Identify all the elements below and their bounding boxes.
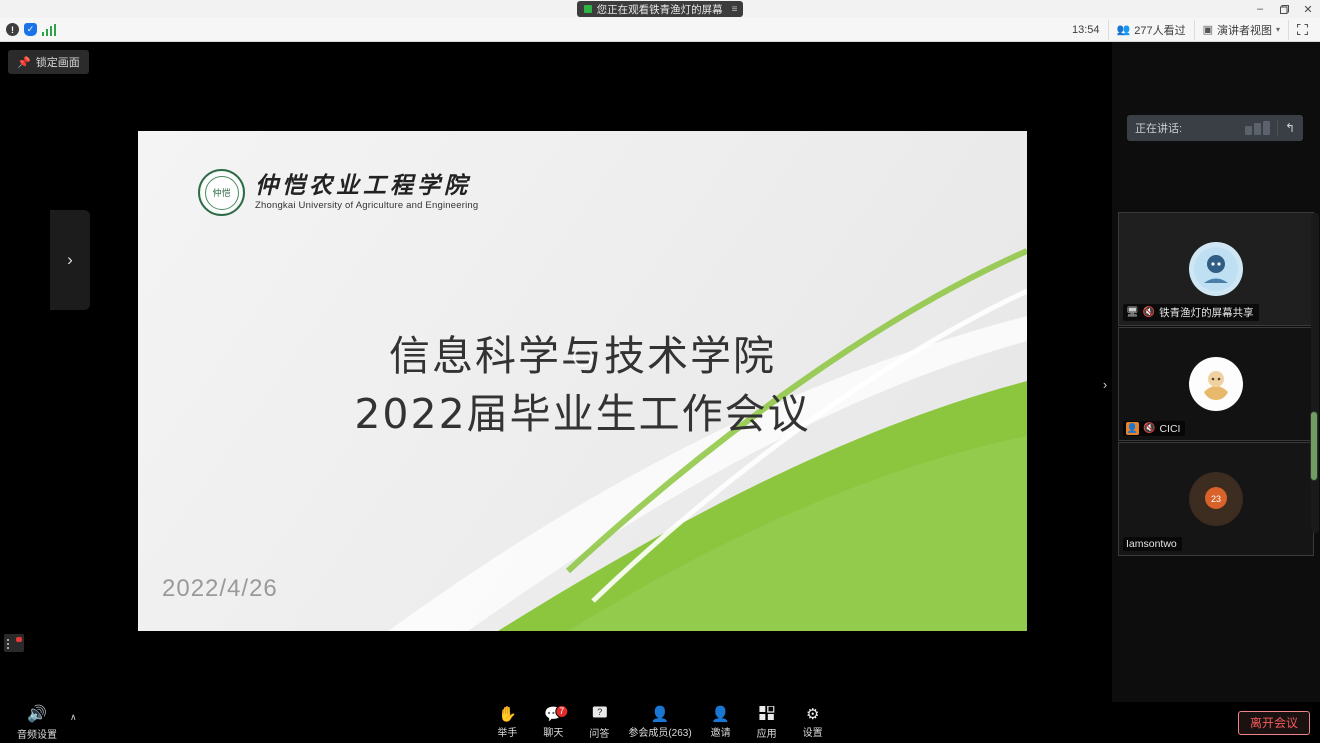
- logo-text-block: 仲恺农业工程学院 Zhongkai University of Agricult…: [255, 174, 478, 211]
- volume-bars-icon: [1245, 121, 1270, 135]
- invite-icon: 👤: [711, 707, 730, 722]
- qa-icon: ?: [592, 706, 607, 723]
- avatar: [1189, 242, 1243, 296]
- audio-settings-button[interactable]: 🔊 音频设置: [6, 703, 68, 743]
- minimize-button[interactable]: –: [1248, 0, 1272, 18]
- apps-grid-icon: [759, 706, 774, 720]
- lock-screen-button[interactable]: 📌 锁定画面: [8, 50, 89, 74]
- raise-hand-button[interactable]: ✋ 举手: [484, 703, 530, 743]
- annotation-toggle-button[interactable]: [4, 634, 24, 652]
- tile-label: Iamsontwo: [1123, 537, 1182, 551]
- title-bar: 您正在观看铁青渔灯的屏幕 ≡ – ✕: [0, 0, 1320, 18]
- participant-tiles-list: 🖥 🔇 铁青渔灯的屏幕共享 👤 🔇: [1118, 212, 1314, 557]
- participant-tile-cici[interactable]: 👤 🔇 CICI: [1118, 327, 1314, 441]
- fullscreen-button[interactable]: [1288, 20, 1316, 40]
- view-mode-button[interactable]: ▣ 演讲者视图 ▾: [1194, 20, 1288, 40]
- chat-label: 聊天: [543, 724, 563, 739]
- university-name-cn: 仲恺农业工程学院: [255, 174, 478, 198]
- svg-text:?: ?: [597, 707, 602, 717]
- participants-scrollbar-track[interactable]: [1311, 213, 1319, 533]
- apps-label: 应用: [757, 725, 777, 740]
- white-cartoon-avatar-icon: [1190, 358, 1242, 410]
- hamburger-menu-icon[interactable]: ≡: [732, 4, 737, 15]
- annotation-list-icon: [7, 638, 21, 649]
- participants-button[interactable]: 👤 参会成员(263): [622, 703, 697, 743]
- meeting-control-bar: 🔊 音频设置 ∧ ✋ 举手 💬 7 聊天 ?: [0, 702, 1320, 743]
- participant-tile-iamsontwo[interactable]: 23 Iamsontwo: [1118, 442, 1314, 556]
- status-icons-group: ! ✓: [0, 23, 56, 36]
- chat-button[interactable]: 💬 7 聊天: [530, 703, 576, 743]
- viewers-count-label: 277人看过: [1134, 22, 1185, 38]
- participants-label: 参会成员(263): [628, 724, 691, 739]
- mic-muted-icon: 🔇: [1143, 424, 1155, 434]
- chat-unread-badge: 7: [555, 705, 568, 718]
- leave-meeting-label: 离开会议: [1250, 714, 1298, 731]
- mic-muted-icon: 🔇: [1143, 308, 1155, 318]
- participant-icon: 👤: [1126, 422, 1139, 435]
- viewers-icon: 👥: [1117, 23, 1131, 36]
- participant-name: 铁青渔灯的屏幕共享: [1159, 305, 1254, 320]
- meeting-sub-toolbar: ! ✓ 13:54 👥 277人看过 ▣ 演讲者视图 ▾: [0, 18, 1320, 42]
- tile-label: 👤 🔇 CICI: [1123, 421, 1185, 436]
- blue-cartoon-avatar-icon: [1194, 247, 1238, 291]
- zoom-meeting-window: 您正在观看铁青渔灯的屏幕 ≡ – ✕ ! ✓ 13:54 👥: [0, 0, 1320, 743]
- chevron-down-icon[interactable]: ▾: [1276, 25, 1280, 34]
- university-name-en: Zhongkai University of Agriculture and E…: [255, 200, 478, 211]
- apps-icon: [759, 706, 774, 723]
- chevron-up-icon[interactable]: ∧: [70, 712, 77, 723]
- avatar: 23: [1189, 472, 1243, 526]
- raise-hand-label: 举手: [497, 724, 517, 739]
- participant-tile-screenshare[interactable]: 🖥 🔇 铁青渔灯的屏幕共享: [1118, 212, 1314, 326]
- nav-next-button[interactable]: ›: [1098, 372, 1112, 396]
- apps-button[interactable]: 应用: [744, 703, 790, 743]
- close-button[interactable]: ✕: [1296, 0, 1320, 18]
- nav-expand-panel-button[interactable]: ›: [50, 210, 90, 310]
- share-notice-text: 您正在观看铁青渔灯的屏幕: [597, 2, 723, 17]
- participants-scrollbar-thumb[interactable]: [1310, 411, 1318, 481]
- fullscreen-icon: [1297, 24, 1308, 35]
- seal-inner-text: 仲恺: [205, 176, 239, 210]
- qa-button[interactable]: ? 问答: [576, 703, 622, 743]
- university-logo: 仲恺 仲恺农业工程学院 Zhongkai University of Agric…: [198, 169, 478, 216]
- loading-spinner-icon: [573, 347, 593, 367]
- meeting-time: 13:54: [1064, 20, 1108, 40]
- maximize-button[interactable]: [1272, 0, 1296, 18]
- audio-settings-label: 音频设置: [17, 726, 57, 741]
- audio-settings-group: 🔊 音频设置 ∧: [6, 703, 77, 743]
- maximize-icon: [1280, 5, 1289, 14]
- meeting-time-label: 13:54: [1072, 24, 1100, 36]
- raise-hand-icon: ✋: [498, 707, 517, 722]
- view-mode-label: 演讲者视图: [1217, 22, 1272, 38]
- svg-text:23: 23: [1211, 494, 1221, 504]
- participant-name: CICI: [1159, 423, 1180, 435]
- sub-toolbar-right: 13:54 👥 277人看过 ▣ 演讲者视图 ▾: [1064, 20, 1320, 40]
- chevron-right-small-icon: ›: [1103, 377, 1107, 392]
- signal-strength-icon[interactable]: [42, 24, 56, 36]
- annotation-alert-dot-icon: [16, 637, 22, 642]
- settings-button[interactable]: ⚙ 设置: [790, 703, 836, 743]
- presentation-slide: 仲恺 仲恺农业工程学院 Zhongkai University of Agric…: [138, 131, 1027, 631]
- tile-label: 🖥 🔇 铁青渔灯的屏幕共享: [1123, 304, 1259, 321]
- slide-title: 信息科学与技术学院 2022届毕业生工作会议: [138, 327, 1027, 443]
- settings-label: 设置: [803, 724, 823, 739]
- viewers-count-button[interactable]: 👥 277人看过: [1108, 20, 1194, 40]
- photo-avatar-icon: 23: [1190, 473, 1242, 525]
- lock-screen-label: 锁定画面: [36, 54, 80, 70]
- chevron-right-icon: ›: [67, 250, 73, 270]
- reply-arrow-icon[interactable]: ↰: [1285, 121, 1295, 135]
- shield-icon[interactable]: ✓: [24, 23, 37, 36]
- participants-side-panel: 正在讲话: ↰ 🖥 🔇 铁青渔: [1112, 42, 1320, 702]
- avatar: [1189, 357, 1243, 411]
- invite-button[interactable]: 👤 邀请: [698, 703, 744, 743]
- window-controls: – ✕: [1248, 0, 1320, 18]
- screen-share-icon: 🖥: [1126, 308, 1139, 318]
- layout-icon: ▣: [1203, 23, 1213, 36]
- university-seal-icon: 仲恺: [198, 169, 245, 216]
- active-speaker-label: 正在讲话:: [1135, 120, 1182, 136]
- active-speaker-bar: 正在讲话: ↰: [1127, 115, 1303, 141]
- invite-label: 邀请: [711, 724, 731, 739]
- qa-box-icon: ?: [592, 706, 607, 720]
- leave-meeting-button[interactable]: 离开会议: [1238, 711, 1310, 735]
- participants-icon: 👤: [651, 707, 670, 722]
- participant-name: Iamsontwo: [1126, 538, 1177, 550]
- qa-label: 问答: [589, 725, 609, 740]
- gear-icon: ⚙: [806, 707, 819, 722]
- control-buttons-group: ✋ 举手 💬 7 聊天 ? 问答 👤 参会成员(263): [484, 703, 835, 743]
- divider: [1277, 120, 1278, 136]
- info-icon[interactable]: !: [6, 23, 19, 36]
- slide-title-line2: 2022届毕业生工作会议: [138, 385, 1027, 443]
- speaker-icon: 🔊: [27, 704, 47, 724]
- shared-screen-stage: 📌 锁定画面 › › 仲恺: [0, 42, 1112, 702]
- slide-date: 2022/4/26: [162, 575, 278, 603]
- screen-share-notice[interactable]: 您正在观看铁青渔灯的屏幕 ≡: [577, 1, 744, 17]
- share-active-indicator-icon: [584, 5, 592, 13]
- pin-icon: 📌: [17, 56, 31, 69]
